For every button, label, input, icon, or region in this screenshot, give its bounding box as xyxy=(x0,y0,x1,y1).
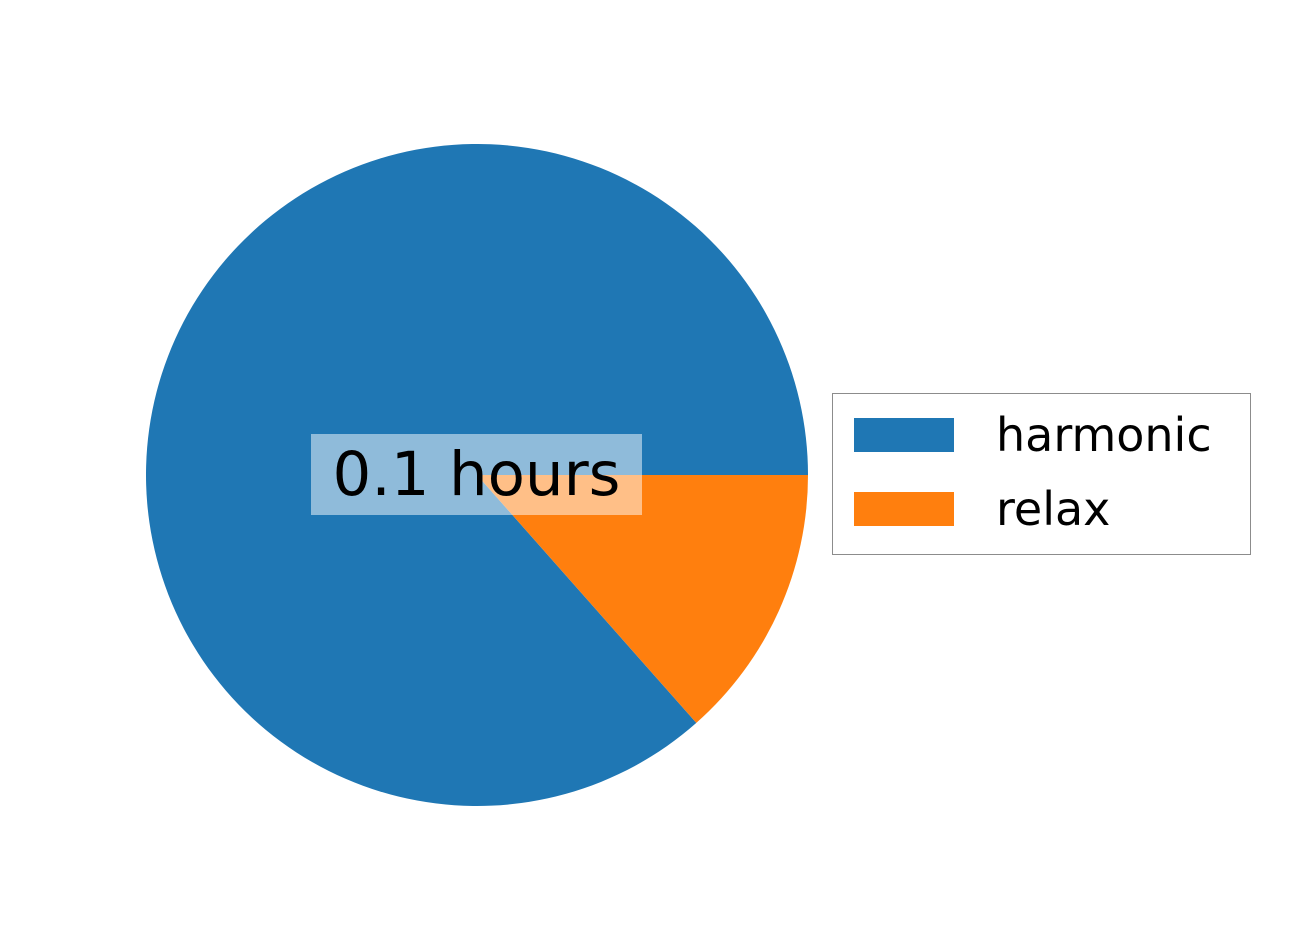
legend-swatch-relax xyxy=(854,492,954,526)
legend-item-relax[interactable]: relax xyxy=(854,492,1110,526)
pie-chart-figure: 0.1 hours harmonic relax xyxy=(0,0,1307,951)
center-value-label: 0.1 hours xyxy=(311,434,642,515)
legend-label-relax: relax xyxy=(996,492,1110,526)
chart-legend: harmonic relax xyxy=(832,393,1251,555)
legend-swatch-harmonic xyxy=(854,418,954,452)
center-value-text: 0.1 hours xyxy=(333,444,621,505)
legend-label-harmonic: harmonic xyxy=(996,418,1212,452)
legend-item-harmonic[interactable]: harmonic xyxy=(854,418,1212,452)
